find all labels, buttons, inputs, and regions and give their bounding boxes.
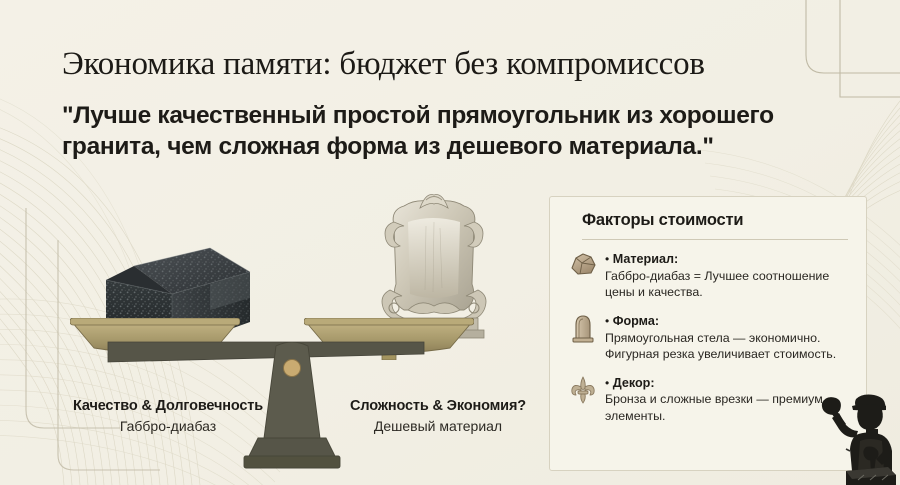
bullet-icon: • [605,314,609,328]
panel-title: Факторы стоимости [568,211,848,230]
bullet-icon: • [605,252,609,266]
factor-item-material: • Материал: Габбро-диабаз = Лучшее соотн… [568,250,848,301]
headstone-icon [568,312,598,346]
factor-text-material: Габбро-диабаз = Лучшее соотношение цены … [605,268,848,301]
scale-caption-left-title: Качество & Долговечность [48,398,288,414]
panel-divider [582,239,848,240]
factor-heading-material: • Материал: [605,251,848,268]
scale-caption-right: Сложность & Экономия? Дешевый материал [338,398,538,434]
rock-icon [568,250,598,284]
factor-name-decor: Декор: [613,376,655,390]
factor-name-material: Материал: [613,252,678,266]
factor-body-form: • Форма: Прямоугольная стела — экономичн… [605,312,848,363]
scale-caption-left-subtitle: Габбро-диабаз [48,418,288,434]
fleur-de-lis-icon [568,374,598,408]
factor-heading-form: • Форма: [605,313,848,330]
scale-caption-left: Качество & Долговечность Габбро-диабаз [48,398,288,434]
scale-caption-right-title: Сложность & Экономия? [338,398,538,414]
factor-name-form: Форма: [613,314,659,328]
bullet-icon: • [605,376,609,390]
factor-text-form: Прямоугольная стела — экономично. Фигурн… [605,330,848,363]
page-title: Экономика памяти: бюджет без компромиссо… [62,46,862,83]
stonemason-with-hammer-and-chisel-icon [812,385,896,485]
scale-caption-right-subtitle: Дешевый материал [338,418,538,434]
slide-quote: "Лучше качественный простой прямоугольни… [62,101,852,163]
factor-item-form: • Форма: Прямоугольная стела — экономичн… [568,312,848,363]
factor-body-material: • Материал: Габбро-диабаз = Лучшее соотн… [605,250,848,301]
balance-scale-illustration [46,190,546,480]
slide-header: Экономика памяти: бюджет без компромиссо… [62,46,862,163]
factor-item-decor: • Декор: Бронза и сложные врезки — преми… [568,374,848,425]
